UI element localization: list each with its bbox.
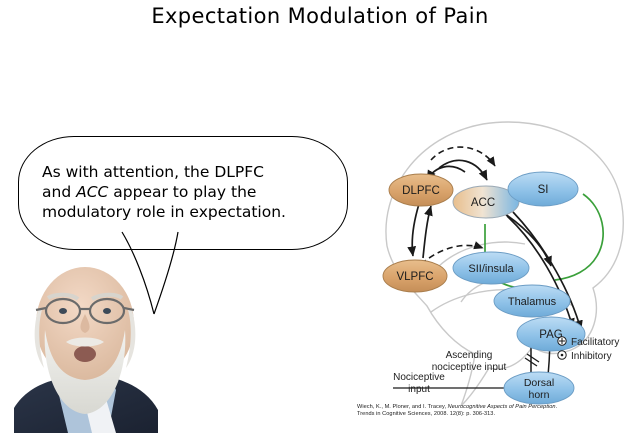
node-label-acc: ACC: [471, 197, 495, 209]
node-si[interactable]: SI: [508, 172, 578, 206]
nociceptive-label-line1: Nociceptive: [393, 372, 445, 383]
ascending-label-line1: Ascending: [446, 350, 493, 361]
node-label-thalamus: Thalamus: [508, 296, 557, 308]
slide-canvas: Expectation Modulation of Pain As with a…: [0, 0, 640, 433]
citation-article-title: Neurocognitive Aspects of Pain Perceptio…: [448, 404, 556, 410]
speech-line-3: modulatory role in expectation.: [42, 203, 286, 221]
eye-right: [103, 308, 111, 314]
speech-bubble-text: As with attention, the DLPFC and ACC app…: [42, 162, 332, 222]
node-label-dlpfc: DLPFC: [402, 185, 440, 197]
speaker-photo: [12, 258, 160, 433]
node-dorsal-horn[interactable]: Dorsal horn: [504, 372, 574, 404]
eye-left: [59, 308, 67, 314]
node-dlpfc[interactable]: DLPFC: [389, 174, 453, 206]
nociceptive-label-line2: input: [408, 384, 430, 395]
speech-emphasis-acc: ACC: [76, 183, 108, 201]
legend-label-inhibitory: Inhibitory: [571, 351, 612, 362]
figure-citation: Wiech, K., M. Ploner, and I. Tracey, Neu…: [357, 404, 640, 418]
legend-label-facilitatory: Facilitatory: [571, 337, 619, 348]
speech-line-2-pre: and: [42, 183, 76, 201]
citation-period: .: [556, 404, 558, 410]
node-vlpfc[interactable]: VLPFC: [383, 260, 447, 292]
node-label-si: SI: [538, 184, 549, 196]
speech-line-1: As with attention, the DLPFC: [42, 163, 264, 181]
node-label-sii-insula: SII/insula: [468, 263, 514, 275]
speech-line-2-post: appear to play the: [108, 183, 256, 201]
speech-bubble: As with attention, the DLPFC and ACC app…: [18, 136, 348, 250]
node-label-dorsal-horn-2: horn: [528, 389, 549, 401]
node-label-dorsal-horn-1: Dorsal: [524, 377, 554, 389]
inhibitory-dot: [561, 354, 564, 357]
node-thalamus[interactable]: Thalamus: [494, 285, 570, 317]
node-sii-insula[interactable]: SII/insula: [453, 252, 529, 284]
brain-pathway-diagram: DLPFC VLPFC ACC SI SII/insula Thalamus P…: [365, 96, 640, 406]
citation-authors: Wiech, K., M. Ploner, and I. Tracey,: [357, 404, 448, 410]
citation-journal: Trends in Cognitive Sciences, 2008. 12(8…: [357, 411, 495, 417]
node-label-vlpfc: VLPFC: [396, 271, 433, 283]
page-title: Expectation Modulation of Pain: [0, 4, 640, 28]
mouth: [74, 346, 96, 362]
